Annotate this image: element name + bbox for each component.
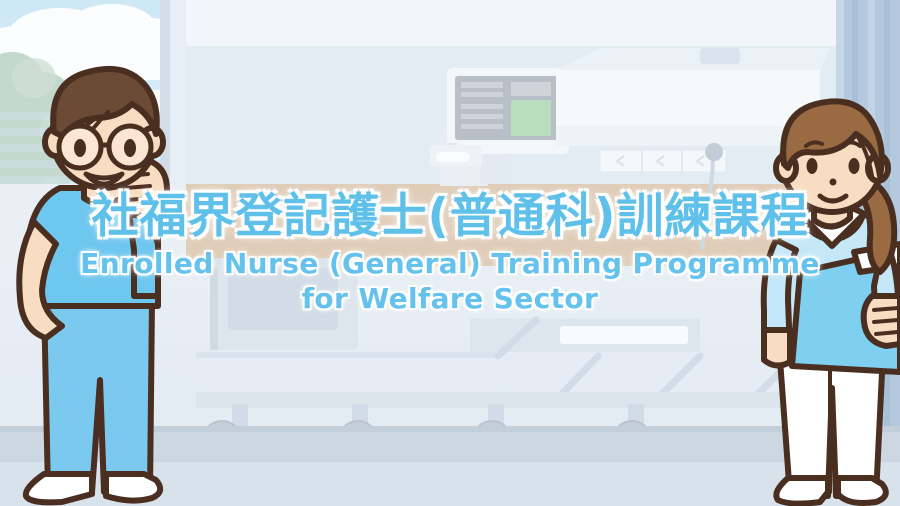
- female-nurse: [0, 0, 900, 506]
- shoe-left: [776, 478, 828, 504]
- poster-canvas: 社福界登記護士(普通科)訓練課程 Enrolled Nurse (General…: [0, 0, 900, 506]
- shoe-right: [838, 478, 886, 503]
